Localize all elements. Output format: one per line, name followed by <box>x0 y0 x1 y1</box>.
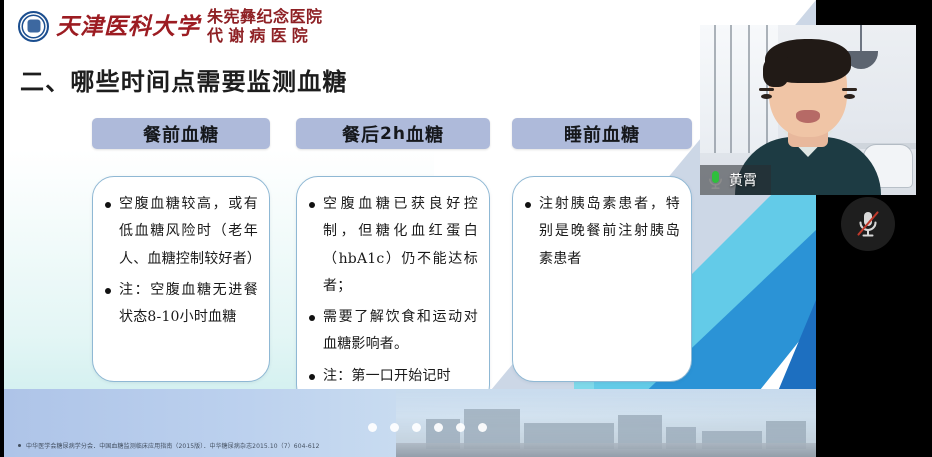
mute-toggle-button[interactable] <box>841 197 895 251</box>
citation-bullet-icon <box>18 444 21 447</box>
column-card-post-meal-2h: 空腹血糖已获良好控制，但糖化血红蛋白（hbA1c）仍不能达标者； 需要了解饮食和… <box>296 176 490 407</box>
university-crest-icon <box>18 11 49 42</box>
column-bedtime: 睡前血糖 注射胰岛素患者，特别是晚餐前注射胰岛素患者 <box>512 118 692 382</box>
list-item: 注：第一口开始记时 <box>308 363 478 390</box>
heading-suffix: 血糖 <box>406 121 444 147</box>
pager-dot[interactable] <box>434 423 443 432</box>
university-name: 天津医科大学 <box>56 15 200 38</box>
presentation-slide[interactable]: 天津医科大学 朱宪彝纪念医院 代谢病医院 二、哪些时间点需要监测血糖 餐前血糖 … <box>4 0 816 457</box>
slide-title: 二、哪些时间点需要监测血糖 <box>20 62 348 97</box>
brand-logo: 天津医科大学 朱宪彝纪念医院 代谢病医院 <box>18 8 323 45</box>
list-item: 注：空腹血糖无进餐状态8-10小时血糖 <box>104 277 258 332</box>
microphone-muted-icon <box>855 209 881 239</box>
microphone-icon <box>708 170 723 190</box>
list-item: 空腹血糖已获良好控制，但糖化血红蛋白（hbA1c）仍不能达标者； <box>308 191 478 300</box>
list-item: 需要了解饮食和运动对血糖影响者。 <box>308 304 478 359</box>
column-card-bedtime: 注射胰岛素患者，特别是晚餐前注射胰岛素患者 <box>512 176 692 382</box>
content-columns: 餐前血糖 空腹血糖较高，或有低血糖风险时（老年人、血糖控制较好者） 注：空腹血糖… <box>4 118 816 386</box>
column-heading-bedtime: 睡前血糖 <box>512 118 692 149</box>
list-item: 注射胰岛素患者，特别是晚餐前注射胰岛素患者 <box>524 191 680 273</box>
speaker-name: 黄霄 <box>729 170 757 190</box>
heading-highlight: 2h <box>380 124 406 144</box>
lecture-viewer-window: 天津医科大学 朱宪彝纪念医院 代谢病医院 二、哪些时间点需要监测血糖 餐前血糖 … <box>0 0 932 457</box>
pager-dot[interactable] <box>390 423 399 432</box>
pager-dot[interactable] <box>478 423 487 432</box>
hospital-name-line2: 代谢病医院 <box>207 27 323 45</box>
list-item: 空腹血糖较高，或有低血糖风险时（老年人、血糖控制较好者） <box>104 191 258 273</box>
pager-dot[interactable] <box>368 423 377 432</box>
column-heading-pre-meal: 餐前血糖 <box>92 118 270 149</box>
slide-pager-dots[interactable] <box>368 423 487 432</box>
citation-text: 中华医学会糖尿病学分会．中国血糖监测临床应用指南（2015版）．中华糖尿病杂志2… <box>26 441 320 450</box>
column-heading-post-meal-2h: 餐后2h血糖 <box>296 118 490 149</box>
speaker-name-badge: 黄霄 <box>700 165 771 195</box>
slide-citation: 中华医学会糖尿病学分会．中国血糖监测临床应用指南（2015版）．中华糖尿病杂志2… <box>18 441 320 450</box>
pager-dot[interactable] <box>456 423 465 432</box>
heading-prefix: 餐后 <box>342 121 380 147</box>
hospital-name-line1: 朱宪彝纪念医院 <box>207 8 323 26</box>
pager-dot[interactable] <box>412 423 421 432</box>
column-card-pre-meal: 空腹血糖较高，或有低血糖风险时（老年人、血糖控制较好者） 注：空腹血糖无进餐状态… <box>92 176 270 382</box>
column-pre-meal: 餐前血糖 空腹血糖较高，或有低血糖风险时（老年人、血糖控制较好者） 注：空腹血糖… <box>92 118 270 382</box>
bullet-list-post-meal-2h: 空腹血糖已获良好控制，但糖化血红蛋白（hbA1c）仍不能达标者； 需要了解饮食和… <box>308 191 478 390</box>
webcam-video-tile[interactable]: 黄霄 <box>700 25 916 195</box>
hospital-name: 朱宪彝纪念医院 代谢病医院 <box>207 8 323 45</box>
column-post-meal-2h: 餐后2h血糖 空腹血糖已获良好控制，但糖化血红蛋白（hbA1c）仍不能达标者； … <box>296 118 490 407</box>
bullet-list-bedtime: 注射胰岛素患者，特别是晚餐前注射胰岛素患者 <box>524 191 680 273</box>
bullet-list-pre-meal: 空腹血糖较高，或有低血糖风险时（老年人、血糖控制较好者） 注：空腹血糖无进餐状态… <box>104 191 258 331</box>
